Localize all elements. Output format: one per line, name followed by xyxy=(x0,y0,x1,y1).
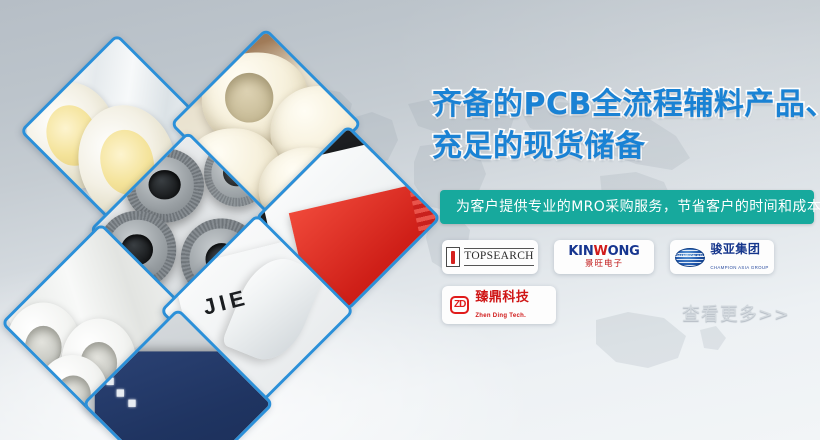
champion-asia-label-en: CHAMPION ASIA GROUP xyxy=(710,265,768,270)
headline-line-2: 充足的现货储备 xyxy=(432,126,820,168)
kinwong-part-a: KIN xyxy=(568,244,593,259)
kinwong-label-cn: 景旺电子 xyxy=(568,260,639,269)
kinwong-label-en: KINWONG xyxy=(568,245,639,258)
kinwong-part-w: W xyxy=(594,244,608,259)
zhen-ding-label-cn: 臻鼎科技 xyxy=(475,290,529,305)
globe-icon-label: CHAMPION ASIA xyxy=(675,255,707,259)
globe-icon: CHAMPION ASIA xyxy=(675,248,705,267)
partner-logo-champion-asia[interactable]: CHAMPION ASIA 骏亚集团 CHAMPION ASIA GROUP xyxy=(670,240,774,274)
partner-logo-kinwong[interactable]: KINWONG 景旺电子 xyxy=(554,240,654,274)
topsearch-label: TOPSEARCH xyxy=(464,248,534,266)
promo-banner: JIE 齐备的PCB全流程辅料产品、 充足的现货储备 为客户提供专业的MRO采购… xyxy=(0,0,820,440)
zhen-ding-label-en: Zhen Ding Tech. xyxy=(475,313,526,319)
kinwong-part-b: ONG xyxy=(608,244,640,259)
headline: 齐备的PCB全流程辅料产品、 充足的现货储备 xyxy=(432,84,820,168)
partner-logo-zhen-ding[interactable]: ZD 臻鼎科技 Zhen Ding Tech. xyxy=(442,286,556,324)
headline-line-1: 齐备的PCB全流程辅料产品、 xyxy=(432,84,820,126)
subtitle-text: 为客户提供专业的MRO采购服务，节省客户的时间和成本 xyxy=(440,200,820,214)
topsearch-mark-icon xyxy=(446,247,460,267)
zhen-ding-mark-icon: ZD xyxy=(450,296,469,314)
partner-logo-topsearch[interactable]: TOPSEARCH xyxy=(442,240,538,274)
product-image-collage: JIE xyxy=(0,0,420,440)
view-more-link[interactable]: 查看更多>> xyxy=(682,306,790,324)
banner-content: 齐备的PCB全流程辅料产品、 充足的现货储备 为客户提供专业的MRO采购服务，节… xyxy=(428,0,820,440)
subtitle-bar: 为客户提供专业的MRO采购服务，节省客户的时间和成本 xyxy=(440,190,814,224)
champion-asia-label-cn: 骏亚集团 xyxy=(710,242,760,256)
